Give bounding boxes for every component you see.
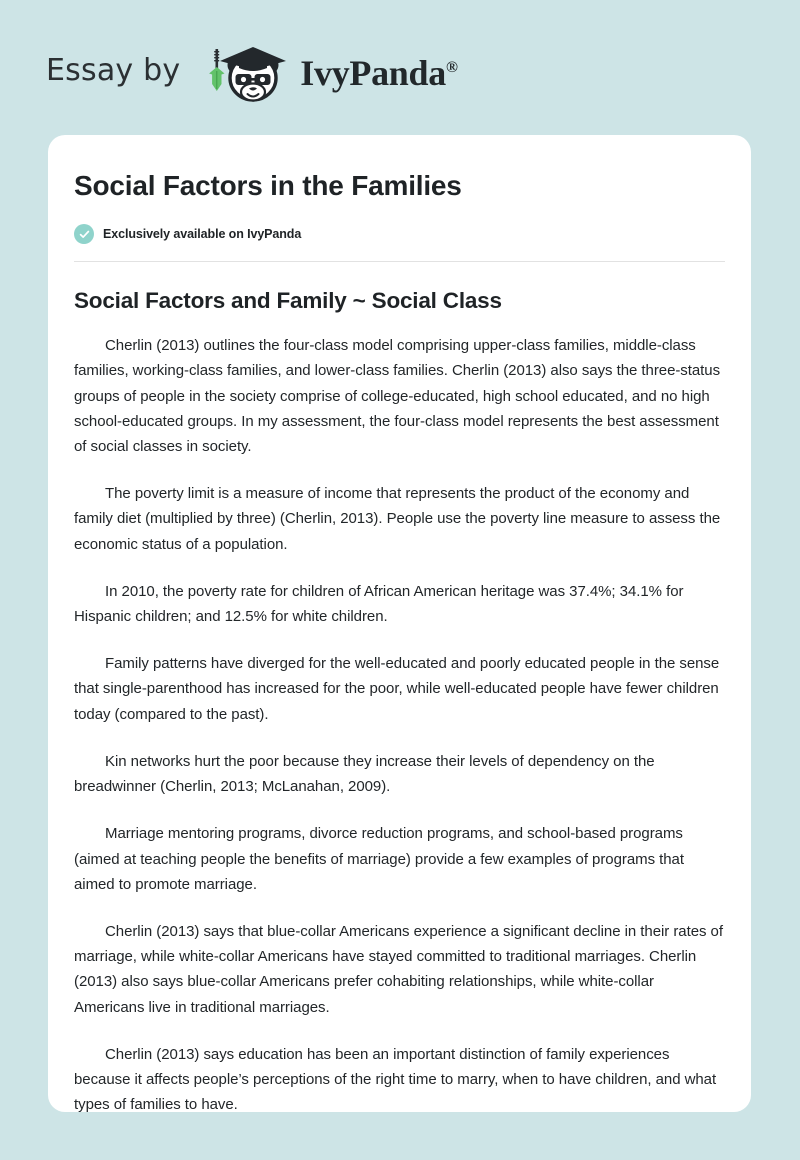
header-divider — [74, 261, 725, 262]
brand-wordmark: IvyPanda® — [300, 55, 458, 91]
exclusivity-badge: Exclusively available on IvyPanda — [74, 224, 725, 244]
page-title: Social Factors in the Families — [74, 168, 725, 203]
brand-header: Essay by — [46, 36, 458, 106]
panda-graduate-logo-icon — [194, 37, 294, 105]
brand-name-text: IvyPanda — [300, 53, 446, 93]
section-heading: Social Factors and Family ~ Social Class — [74, 286, 725, 315]
check-circle-icon — [74, 224, 94, 244]
essay-paragraph: Family patterns have diverged for the we… — [74, 651, 725, 727]
registered-trademark-icon: ® — [446, 59, 458, 76]
essay-body: Cherlin (2013) outlines the four-class m… — [74, 333, 725, 1112]
essay-paragraph: Cherlin (2013) says that blue-collar Ame… — [74, 919, 725, 1020]
essay-by-label: Essay by — [46, 56, 180, 86]
essay-paragraph: The poverty limit is a measure of income… — [74, 481, 725, 557]
document-card: Social Factors in the Families Exclusive… — [48, 135, 751, 1112]
essay-paragraph: Cherlin (2013) outlines the four-class m… — [74, 333, 725, 459]
exclusivity-badge-label: Exclusively available on IvyPanda — [103, 227, 301, 241]
page-root: Essay by — [0, 0, 800, 1160]
document-content: Social Factors in the Families Exclusive… — [48, 135, 751, 1112]
essay-paragraph: Kin networks hurt the poor because they … — [74, 749, 725, 799]
essay-paragraph: Marriage mentoring programs, divorce red… — [74, 821, 725, 897]
essay-paragraph: Cherlin (2013) says education has been a… — [74, 1042, 725, 1112]
essay-paragraph: In 2010, the poverty rate for children o… — [74, 579, 725, 629]
